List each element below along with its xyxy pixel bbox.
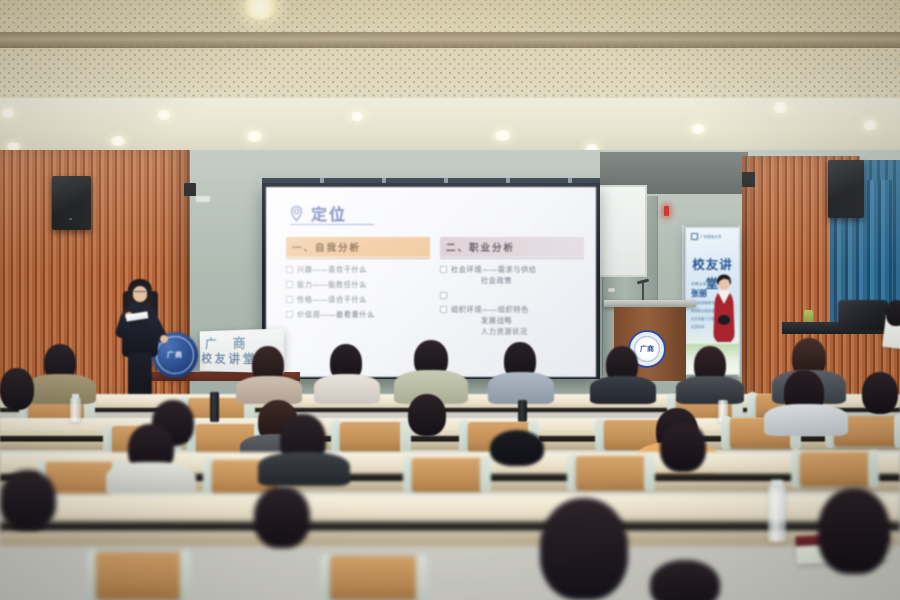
chair[interactable] [340,422,402,452]
location-pin-icon [288,205,305,222]
item-line: 兴趣——喜欢干什么 [297,265,367,275]
chair-side-panel [868,450,879,488]
column-rule [286,258,430,259]
venue-sign-line2: 校友讲堂 [202,350,259,368]
chair-side-panel [416,554,427,600]
chair-side-panel [180,550,191,600]
speaker-bracket [742,172,755,187]
chair-side-panel [480,456,491,494]
item-line: 能力——能胜任什么 [297,280,367,290]
cup [804,310,813,322]
slide-column-career-analysis: 二、职业分析 社会环境——需求与供给 社会政策 [440,237,584,337]
chair[interactable] [46,462,114,496]
item-lines: 能力——能胜任什么 [297,280,367,290]
column-heading: 一、自我分析 [286,237,430,257]
column-items: 社会环境——需求与供给 社会政策 [440,265,584,337]
slide-columns: 一、自我分析 兴趣——喜欢干什么 能力——能胜任什么 [286,237,584,337]
bottle-cap[interactable] [72,394,79,399]
podium-microphone [642,282,644,302]
item-lines: 价值观——最看重什么 [297,310,375,320]
desk-row-4 [0,494,900,522]
wall-marking [196,196,210,202]
attendee-shoulders [26,374,96,404]
loudspeaker-indicator [69,218,72,220]
checkbox-icon[interactable] [286,296,293,303]
banner-logo-text: 广东财经大学 [700,234,722,239]
water-bottle[interactable] [768,486,786,542]
emergency-indicator-light [664,206,669,216]
presenter-hand-right [160,335,168,343]
bottle-cap[interactable] [771,480,783,488]
attendee-head [650,560,720,600]
presenter-face [133,286,147,302]
logo-mark-icon [691,233,698,240]
ceiling-downlight [156,110,172,120]
door-handle[interactable] [608,288,615,292]
banner-speaker-photo [711,274,737,348]
slide-title: 定位 [288,201,347,225]
attendee-head [0,470,56,530]
speaker-bracket [184,183,196,196]
list-item: 能力——能胜任什么 [286,280,430,290]
attendee-head [254,486,310,548]
chair-side-panel [644,454,655,492]
chair-backrest [340,422,402,452]
podium-top [604,300,696,307]
list-item: 价值观——最看重什么 [286,310,430,320]
attendee-shoulders [590,376,656,404]
item-line: 人力资源状况 [451,327,529,337]
chair-backrest [46,462,114,496]
thermos-tumbler[interactable] [518,400,527,422]
ceiling-downlight [862,120,878,130]
chair[interactable] [800,452,870,486]
ceiling-downlight [0,108,16,118]
chair[interactable] [330,556,418,600]
checkbox-icon[interactable] [286,311,293,318]
chair-backrest [800,452,870,486]
chair[interactable] [96,552,182,600]
item-line: 价值观——最看重什么 [297,310,375,320]
chair[interactable] [576,456,646,490]
attendee-head [886,300,900,326]
ceiling-downlight [690,124,706,134]
ceiling-soffit [0,98,900,152]
item-lines: 组织环境——组织特色 发展战略 人力资源状况 [451,305,529,337]
item-line: 组织环境——组织特色 [451,305,529,315]
banner-university-logo: 广东财经大学 [691,233,722,240]
thermos-tumbler[interactable] [210,392,219,422]
checkbox-icon[interactable] [440,266,447,273]
attendee-head [818,488,890,574]
item-line: 发展战略 [451,316,529,326]
checkbox-icon[interactable] [286,281,293,288]
attendee-shoulders [764,404,848,436]
item-lines: 兴趣——喜欢干什么 [297,265,367,275]
chair-backrest [412,458,482,492]
item-lines: 性格——适合干什么 [297,295,367,305]
attendee-head [660,422,706,472]
item-line: 性格——适合干什么 [297,295,367,305]
ceiling-downlight [246,131,263,142]
checkbox-icon[interactable] [440,292,447,299]
attendee-head [0,368,34,410]
presenter [104,279,176,397]
water-bottle[interactable] [70,398,81,422]
column-items: 兴趣——喜欢干什么 能力——能胜任什么 性格——适合 [286,265,430,320]
desk-skirt [0,532,900,546]
chair-side-panel [894,414,900,448]
attendee-head [862,372,898,414]
column-heading: 二、职业分析 [440,237,584,257]
slide-column-self-analysis: 一、自我分析 兴趣——喜欢干什么 能力——能胜任什么 [286,237,430,337]
side-whiteboard [595,185,647,277]
list-item: 组织环境——组织特色 发展战略 人力资源状况 [440,305,584,337]
chair[interactable] [412,458,482,492]
lecture-hall-scene: 定位 一、自我分析 兴趣——喜欢干什么 [0,0,900,600]
ceiling-downlight [772,102,789,113]
chair-backrest [96,552,182,600]
loudspeaker [52,176,91,230]
ceiling [0,0,900,150]
list-item: 兴趣——喜欢干什么 [286,265,430,275]
baseball-cap [490,430,544,466]
attendee-shoulders [676,376,744,404]
ceiling-downlight [110,136,126,146]
banner-speaker-name: 张丽 [691,288,707,299]
slide-title-text: 定位 [311,201,347,225]
item-line: 社会政策 [451,276,537,286]
slide-title-underline [290,224,374,225]
attendee-shoulders [258,452,350,486]
handbag [838,300,888,330]
desk-front-panel [0,522,900,532]
list-item: 社会环境——需求与供给 社会政策 [440,265,584,286]
ceiling-acoustic-panel-lower [0,46,900,98]
list-item [440,291,584,300]
attendee-head [540,498,628,600]
item-lines: 社会环境——需求与供给 社会政策 [451,265,537,286]
checkbox-icon[interactable] [440,306,447,313]
ceiling-acoustic-panel-upper [0,0,900,34]
column-rule [440,258,584,259]
attendee-head [408,394,446,436]
list-item: 性格——适合干什么 [286,295,430,305]
loudspeaker [828,160,864,218]
attendee-shoulders [236,376,302,404]
ceiling-downlight [350,112,364,121]
presenter-legs [128,353,152,397]
eyeglasses-icon [134,291,146,294]
seal-outer-ring [634,336,660,362]
ceiling-downlight [494,130,511,141]
attendee-shoulders [106,462,196,496]
attendee-shoulders [314,374,380,404]
checkbox-icon[interactable] [286,266,293,273]
chair-backrest [330,556,418,600]
chair-backrest [576,456,646,490]
item-line: 社会环境——需求与供给 [451,265,537,275]
